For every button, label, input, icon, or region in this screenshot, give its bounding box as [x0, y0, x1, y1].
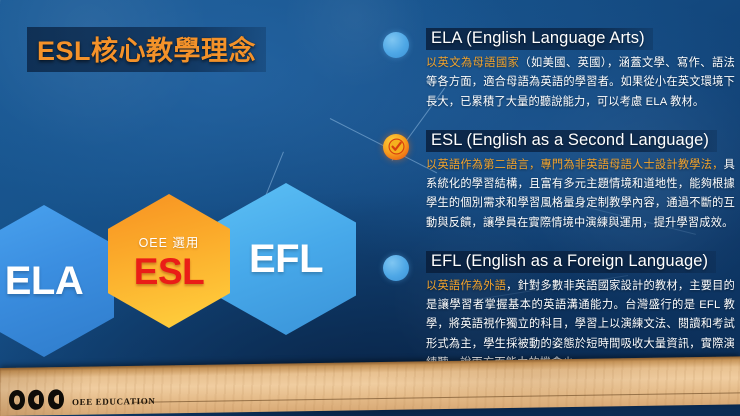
hexagon-badge-efl[interactable]: EFL: [216, 183, 356, 335]
section-text-efl: ，針對多數非英語國家設計的教材，主要目的是讓學習者掌握基本的英語溝通能力。台灣盛…: [426, 280, 735, 369]
section-ela: ELA (English Language Arts) 以英文為母語國家（如美國…: [383, 28, 735, 112]
orange-check-icon: [383, 134, 409, 160]
section-heading-ela: ELA (English Language Arts): [426, 28, 653, 50]
page-title: ESL核心教學理念: [37, 29, 256, 68]
section-heading-esl: ESL (English as a Second Language): [426, 130, 717, 152]
hexagon-badge-ela[interactable]: ELA: [0, 205, 114, 357]
hexagon-badge-esl[interactable]: OEE 選用 ESL: [108, 194, 230, 328]
hexagon-label-esl: ESL: [134, 253, 204, 290]
section-lead-esl: 以英語作為第二語言，專門為非英語母語人士設計教學法，: [426, 159, 724, 171]
section-heading-efl: EFL (English as a Foreign Language): [426, 251, 716, 273]
section-efl: EFL (English as a Foreign Language) 以英語作…: [383, 251, 735, 373]
ledge-rule-line: [132, 392, 740, 403]
sections-list: ELA (English Language Arts) 以英文為母語國家（如美國…: [383, 24, 735, 373]
blue-dot-icon: [383, 255, 409, 281]
brand-logo[interactable]: OEE EDUCATION: [8, 387, 155, 411]
section-lead-efl: 以英語作為外語: [426, 280, 506, 292]
section-esl: ESL (English as a Second Language) 以英語作為…: [383, 130, 735, 233]
oee-logo-icon: [8, 388, 66, 411]
page-title-banner: ESL核心教學理念: [27, 27, 266, 72]
blue-dot-icon: [383, 32, 409, 58]
section-body-ela: 以英文為母語國家（如美國、英國），涵蓋文學、寫作、語法等各方面，適合母語為英語的…: [426, 54, 735, 112]
section-lead-ela: 以英文為母語國家: [426, 57, 519, 69]
section-body-esl: 以英語作為第二語言，專門為非英語母語人士設計教學法，具系統化的學習結構，且富有多…: [426, 156, 735, 233]
hexagon-sublabel-esl: OEE 選用: [139, 232, 200, 251]
hexagon-label-efl: EFL: [249, 239, 323, 279]
hexagon-label-ela: ELA: [5, 261, 84, 301]
slide-root: ESL核心教學理念 ELA EFL OEE 選用 ESL ELA (Englis…: [0, 0, 740, 416]
brand-logo-text: OEE EDUCATION: [72, 396, 155, 410]
